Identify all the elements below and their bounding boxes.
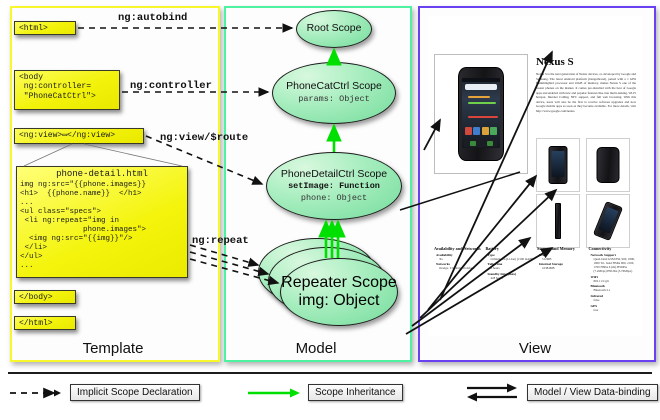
phone-searchbar [465, 84, 497, 90]
spec-value: Quad-band GSM 850, 900, 1800, 1900 Tri- … [589, 257, 637, 274]
spec-value: Orange, T-Mobile, Vodafone [434, 266, 482, 270]
scope-phonedetailctrl-prop-setimage: setImage: Function [288, 182, 380, 192]
phone-widget-bar-3 [468, 116, 498, 118]
panel-label-template: Template [10, 340, 216, 357]
legend-label-databinding: Model / View Data-binding [527, 384, 658, 401]
scope-phonedetailctrl-title: PhoneDetailCtrl Scope [281, 169, 387, 180]
spec-heading: Storage and Memory [537, 246, 585, 251]
phone-device-icon [458, 67, 504, 161]
label-ng-repeat: ng:repeat [192, 235, 249, 247]
spec-value: Lithium Ion (Li-Ion) (1500 mAH) [486, 257, 534, 261]
spec-value: false [589, 298, 637, 302]
product-description: Nexus S is the next generation of Nexus … [536, 72, 636, 114]
panel-label-view: View [418, 340, 652, 357]
scope-repeater-title: Repeater Scope [281, 274, 397, 292]
code-box-phone-detail: phone-detail.html img ng:src="{{phone.im… [16, 166, 188, 278]
diagram-canvas: <html> <body ng:controller= "PhoneCatCtr… [0, 0, 660, 420]
phone-widget-bar-1 [468, 96, 490, 98]
thumbnail-4[interactable] [586, 194, 630, 248]
double-arrow-icon [463, 380, 521, 404]
thumbnail-3-phone-icon [555, 203, 561, 239]
phone-app-icons [465, 127, 497, 136]
spec-value: 802.11 b/g/n [589, 279, 637, 283]
legend-item-databinding: Model / View Data-binding [463, 380, 658, 404]
phone-dock [464, 139, 498, 147]
code-box-html-close: </html> [14, 316, 76, 330]
scope-root-title: Root Scope [307, 23, 362, 34]
thumbnail-4-phone-icon [593, 201, 623, 241]
phone-hero-image [434, 54, 528, 174]
legend-label-inheritance: Scope Inheritance [308, 384, 403, 401]
legend-label-implicit: Implicit Scope Declaration [70, 384, 200, 401]
spec-value: Bluetooth 2.1 [589, 288, 637, 292]
spec-heading: Connectivity [589, 246, 637, 251]
spec-column-connectivity: Connectivity Network Support Quad-band G… [589, 246, 637, 330]
scope-phonecatctrl: PhoneCatCtrl Scope params: Object [272, 62, 396, 124]
scope-phonedetailctrl: PhoneDetailCtrl Scope setImage: Function… [266, 152, 402, 220]
label-ng-view-route: ng:view/$route [160, 132, 248, 144]
scope-phonecatctrl-prop-params: params: Object [298, 95, 369, 105]
view-rendered-page: Nexus S Nexus S is the next generation o… [428, 16, 642, 336]
spec-value: 16384MB [537, 266, 585, 270]
spec-table: Availability and Networks Availability 3… [434, 246, 636, 330]
scope-repeater-stack: Repeater Scope img: Object [258, 238, 408, 338]
spec-column-availability: Availability and Networks Availability 3… [434, 246, 482, 330]
scope-repeater-front: Repeater Scope img: Object [280, 258, 398, 326]
scope-repeater-prop-img: img: Object [299, 292, 380, 310]
thumbnail-1[interactable] [536, 138, 580, 192]
spec-value: 3G [434, 257, 482, 261]
spec-value: 512MB [537, 257, 585, 261]
thumbnail-2[interactable] [586, 138, 630, 192]
legend-divider [8, 372, 652, 374]
thumbnail-1-phone-icon [549, 146, 568, 184]
green-arrow-icon [246, 386, 302, 400]
phone-screen [462, 78, 500, 148]
code-box-body-close: </body> [14, 290, 76, 304]
label-ng-controller: ng:controller [130, 80, 212, 92]
spec-heading: Battery [486, 246, 534, 251]
dashed-arrow-icon [8, 386, 64, 400]
spec-column-storage: Storage and Memory RAM 512MB Internal St… [537, 246, 585, 330]
phone-detail-filename: phone-detail.html [20, 168, 184, 181]
panel-label-model: Model [224, 340, 408, 357]
scope-root: Root Scope [296, 10, 372, 48]
scope-phonedetailctrl-prop-phone: phone: Object [301, 194, 367, 204]
thumbnail-3[interactable] [536, 194, 580, 248]
product-title: Nexus S [536, 56, 574, 68]
label-ng-autobind: ng:autobind [118, 12, 187, 24]
legend-item-implicit: Implicit Scope Declaration [8, 384, 200, 401]
phone-widget-bar-2 [468, 102, 496, 104]
spec-heading: Availability and Networks [434, 246, 482, 251]
legend: Implicit Scope Declaration Scope Inherit… [8, 380, 652, 414]
spec-value: 428 hours [486, 276, 534, 280]
thumbnail-2-phone-icon [597, 147, 620, 183]
code-box-html-open: <html> [14, 21, 76, 35]
code-box-body-open: <body ng:controller= "PhoneCatCtrl"> [14, 70, 120, 110]
scope-phonecatctrl-title: PhoneCatCtrl Scope [286, 81, 382, 92]
code-box-ng-view: <ng:view>▭</ng:view> [14, 128, 144, 144]
phone-detail-code: img ng:src="{{phone.images}} <h1> {{phon… [20, 181, 184, 271]
spec-value: true [589, 308, 637, 312]
spec-value: 6 hours [486, 266, 534, 270]
legend-item-inheritance: Scope Inheritance [246, 384, 403, 401]
spec-column-battery: Battery Type Lithium Ion (Li-Ion) (1500 … [486, 246, 534, 330]
phone-statusbar [462, 78, 500, 82]
